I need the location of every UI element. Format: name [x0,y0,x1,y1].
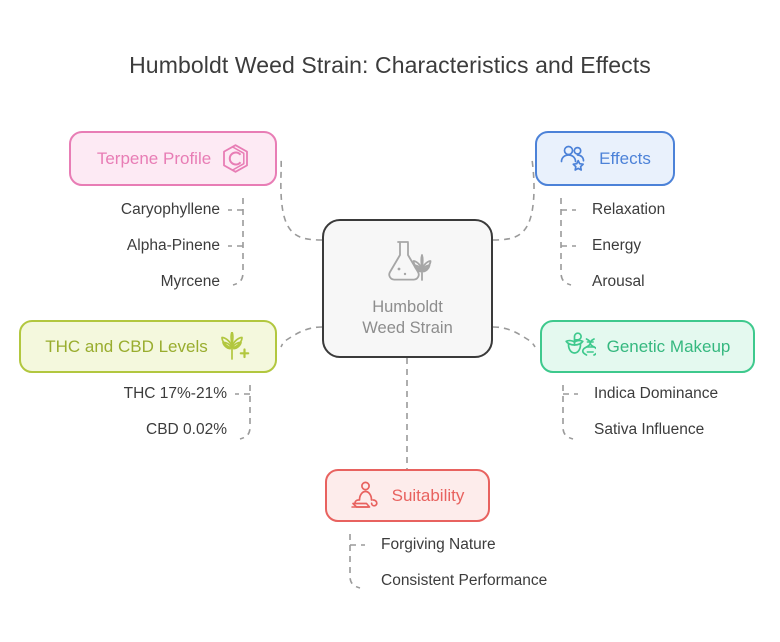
branch-node-suitability[interactable]: Suitability [325,469,490,522]
leaf-genetic-0: Indica Dominance [594,385,779,403]
branch-label-suitability: Suitability [392,486,465,506]
center-node-label: Humboldt Weed Strain [362,297,453,339]
leaf-terpene-0: Caryophyllene [38,201,220,219]
branch-label-effects: Effects [599,149,651,169]
hexagon-c-icon [222,144,249,173]
connector-center-to-effects [493,159,534,240]
dna-plant-icon [565,332,596,362]
leaf-suitability-0: Forgiving Nature [381,536,641,554]
center-node-line1: Humboldt [372,298,443,316]
connector-effects-spine [561,198,571,285]
center-node[interactable]: Humboldt Weed Strain [322,219,493,358]
branch-node-genetic-makeup[interactable]: Genetic Makeup [540,320,755,373]
page-title: Humboldt Weed Strain: Characteristics an… [0,52,780,79]
connector-center-to-genetic [493,327,535,347]
cannabis-leaf-cross-icon [219,332,251,362]
connector-center-to-thc [281,327,322,347]
mindmap-canvas: Humboldt Weed Strain: Characteristics an… [0,0,780,642]
leaf-thc-0: THC 17%-21% [48,385,227,403]
branch-node-thc-and-cbd-levels[interactable]: THC and CBD Levels [19,320,277,373]
center-node-line2: Weed Strain [362,319,453,337]
connector-genetic-spine [563,385,573,439]
leaf-terpene-2: Myrcene [38,273,220,291]
leaf-effects-1: Energy [592,237,772,255]
flask-cannabis-leaf-icon [378,238,438,291]
branch-label-genetic-makeup: Genetic Makeup [607,337,731,357]
connector-suitability-spine [350,534,360,588]
leaf-thc-1: CBD 0.02% [48,421,227,439]
leaf-suitability-1: Consistent Performance [381,572,641,590]
branch-label-thc-and-cbd-levels: THC and CBD Levels [45,337,208,357]
branch-node-effects[interactable]: Effects [535,131,675,186]
leaf-genetic-1: Sativa Influence [594,421,779,439]
person-care-icon [351,481,381,510]
connector-terpene-spine [233,198,243,285]
people-star-icon [559,144,588,173]
leaf-effects-0: Relaxation [592,201,772,219]
leaf-effects-2: Arousal [592,273,772,291]
connector-thc-spine [240,385,250,439]
connector-center-to-terpene [281,159,322,240]
branch-label-terpene-profile: Terpene Profile [97,149,211,169]
leaf-terpene-1: Alpha-Pinene [38,237,220,255]
branch-node-terpene-profile[interactable]: Terpene Profile [69,131,277,186]
